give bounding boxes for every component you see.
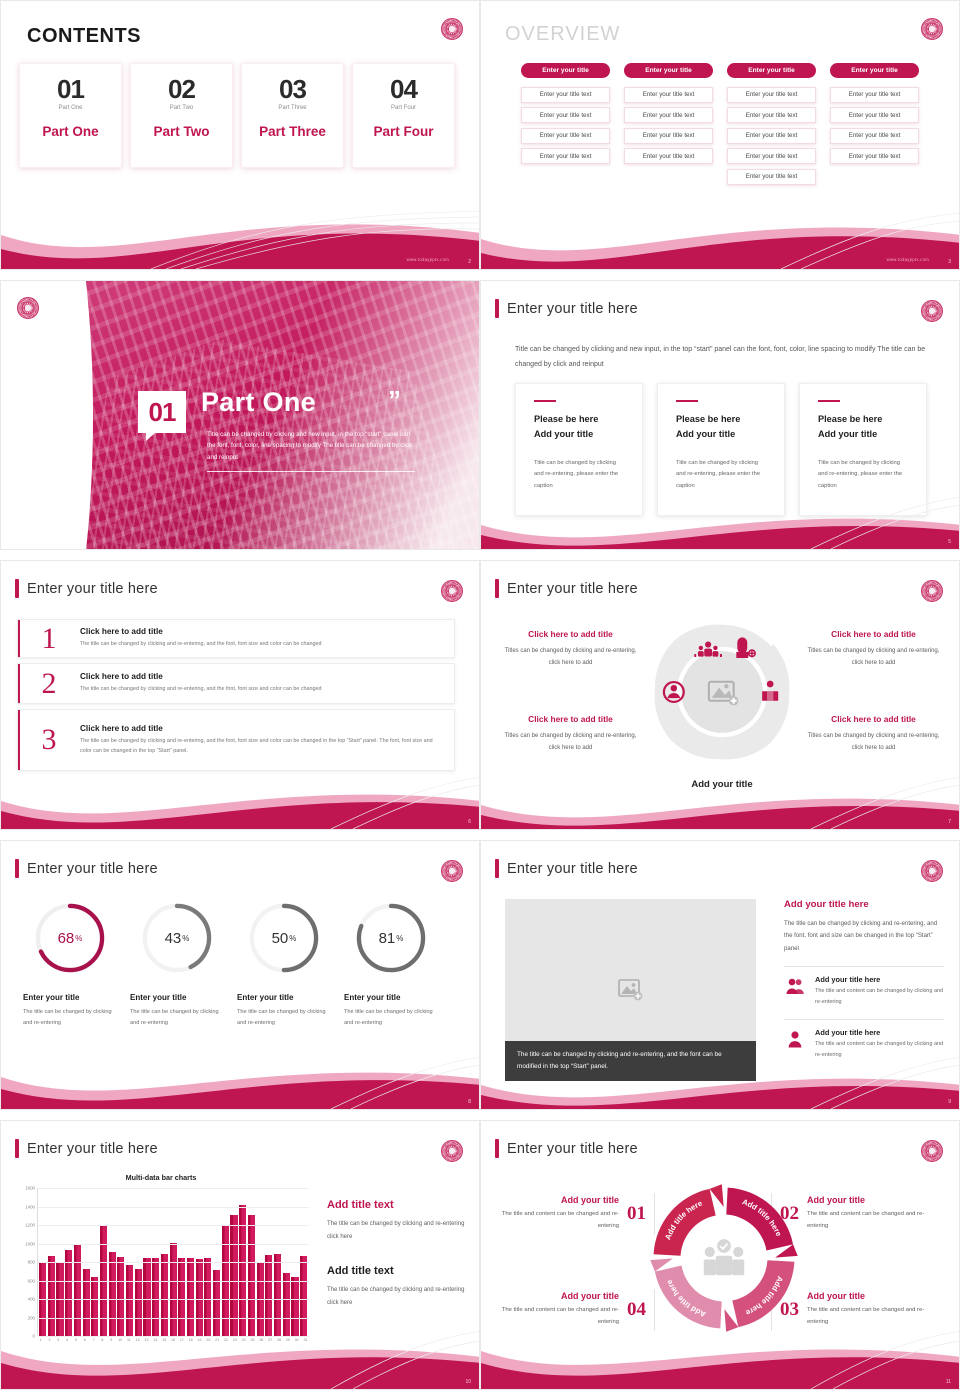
chart-bar xyxy=(265,1255,272,1336)
progress-ring: 81% xyxy=(354,901,428,975)
slide-cycle-diagram[interactable]: Enter your title here Add your title The… xyxy=(480,1120,960,1390)
title-accent-bar xyxy=(495,299,499,318)
chart-bar xyxy=(109,1252,116,1336)
chart-x-tick: 21 xyxy=(214,1338,221,1342)
slide-title-bar: Enter your title here xyxy=(15,859,158,878)
block-body: The title can be changed by clicking and… xyxy=(327,1284,467,1309)
slide-three-cards[interactable]: Enter your title here Title can be chang… xyxy=(480,280,960,550)
item-number: 04 xyxy=(627,1299,646,1321)
card-number: 04 xyxy=(353,76,454,102)
chart-x-tick: 4 xyxy=(63,1338,70,1342)
slide-numbered-list[interactable]: Enter your title here 1 Click here to ad… xyxy=(0,560,480,830)
row-body: The title can be changed by clicking and… xyxy=(80,640,444,650)
overview-item[interactable]: Enter your title text xyxy=(624,87,713,103)
section-heading: Part One xyxy=(201,387,316,418)
divider-rule xyxy=(207,471,415,472)
ring-body: The title can be changed by clicking and… xyxy=(237,1007,329,1029)
ring-body: The title can be changed by clicking and… xyxy=(130,1007,222,1029)
column-heading: Add your title here xyxy=(784,899,944,910)
ring-heading: Enter your title xyxy=(130,993,237,1002)
chart-gridline xyxy=(38,1299,309,1300)
chart-bar xyxy=(170,1243,177,1336)
ring-body: The title can be changed by clicking and… xyxy=(344,1007,436,1029)
card-accent-dash xyxy=(676,400,698,402)
left-white-curve xyxy=(1,281,93,550)
overview-column: Enter your title Enter your title text E… xyxy=(830,63,919,185)
chart-bar xyxy=(178,1258,185,1336)
chart-title: Multi-data bar charts xyxy=(13,1173,309,1182)
column-body: The title can be changed by clicking and… xyxy=(784,918,944,955)
card-heading-line1: Please be here xyxy=(534,414,598,424)
chart-x-tick: 11 xyxy=(125,1338,132,1342)
ring-number: 50 xyxy=(272,930,289,947)
slide-title-bar: Enter your title here xyxy=(15,579,158,598)
ring-item[interactable]: 43% Enter your title The title can be ch… xyxy=(130,901,237,1029)
block-heading: Add title text xyxy=(327,1265,467,1277)
quote-mark-icon: ” xyxy=(388,385,401,416)
chart-gridline xyxy=(38,1318,309,1319)
card-number: 03 xyxy=(242,76,343,102)
page-title: Enter your title here xyxy=(507,581,638,597)
ring-item[interactable]: 81% Enter your title The title can be ch… xyxy=(344,901,451,1029)
card-body: Title can be changed by clicking and re-… xyxy=(676,458,766,493)
chart-x-tick: 15 xyxy=(161,1338,168,1342)
radial-item-top-left[interactable]: Click here to add title Titles can be ch… xyxy=(503,629,638,669)
chart-x-tick: 10 xyxy=(116,1338,123,1342)
chart-bar xyxy=(196,1259,203,1336)
chart-x-tick: 12 xyxy=(134,1338,141,1342)
university-seal-icon xyxy=(441,580,463,602)
chart-bar xyxy=(74,1245,81,1336)
feature-heading: Add your title here xyxy=(815,1028,944,1037)
chart-x-tick: 17 xyxy=(178,1338,185,1342)
slide-contents[interactable]: CONTENTS 01 Part One Part One 02 Part Tw… xyxy=(0,0,480,270)
diagram-caption: Add your title xyxy=(649,779,795,790)
overview-columns: Enter your title Enter your title text E… xyxy=(521,63,919,185)
progress-ring: 68% xyxy=(33,901,107,975)
overview-pill-button[interactable]: Enter your title xyxy=(521,63,610,78)
chart-gridline xyxy=(38,1244,309,1245)
ring-value: 50% xyxy=(247,901,321,975)
overview-item[interactable]: Enter your title text xyxy=(521,107,610,123)
title-accent-bar xyxy=(495,859,499,878)
image-caption: The title can be changed by clicking and… xyxy=(505,1041,756,1081)
slide-overview[interactable]: OVERVIEW Enter your title Enter your tit… xyxy=(480,0,960,270)
chart-x-tick: 31 xyxy=(302,1338,309,1342)
chart-x-tick: 9 xyxy=(108,1338,115,1342)
chart-x-tick: 3 xyxy=(55,1338,62,1342)
page-title: OVERVIEW xyxy=(505,23,620,46)
row-body: The title can be changed by clicking and… xyxy=(80,685,444,695)
chart-gridline xyxy=(38,1225,309,1226)
item-heading: Click here to add title xyxy=(503,714,638,724)
chart-x-tick: 22 xyxy=(222,1338,229,1342)
list-item[interactable]: 1 Click here to add title The title can … xyxy=(17,619,455,658)
radial-donut-chart[interactable] xyxy=(649,619,795,765)
card-subtitle: Part Three xyxy=(242,105,343,111)
item-heading: Click here to add title xyxy=(806,714,941,724)
radial-layout: Click here to add title Titles can be ch… xyxy=(481,609,960,809)
slide-title-bar: Enter your title here xyxy=(495,579,638,598)
contents-card-list: 01 Part One Part One 02 Part Two Part Tw… xyxy=(19,63,455,168)
contents-card[interactable]: 03 Part Three Part Three xyxy=(241,63,344,168)
list-item[interactable]: 3 Click here to add title The title can … xyxy=(17,709,455,771)
chart-x-tick: 20 xyxy=(205,1338,212,1342)
chart-x-tick: 18 xyxy=(187,1338,194,1342)
slide-title-bar: Enter your title here xyxy=(495,859,638,878)
chart-y-tick: 800 xyxy=(28,1260,35,1265)
chart-y-tick: 1400 xyxy=(25,1204,35,1209)
radial-item-bottom-right[interactable]: Click here to add title Titles can be ch… xyxy=(806,714,941,754)
ring-heading: Enter your title xyxy=(237,993,344,1002)
chart-bar xyxy=(135,1269,142,1336)
overview-column: Enter your title Enter your title text E… xyxy=(521,63,610,185)
chart-x-tick: 23 xyxy=(231,1338,238,1342)
info-card[interactable]: Please be hereAdd your title Title can b… xyxy=(515,383,643,516)
page-number: 10 xyxy=(465,1379,471,1385)
item-body: The title and content can be changed and… xyxy=(807,1209,933,1232)
wave-decoration xyxy=(481,1325,960,1389)
overview-pill-button[interactable]: Enter your title xyxy=(830,63,919,78)
chart-x-tick: 2 xyxy=(46,1338,53,1342)
wave-decoration xyxy=(1,765,480,829)
overview-item[interactable]: Enter your title text xyxy=(521,87,610,103)
slide-title-bar: Enter your title here xyxy=(495,299,638,318)
item-body: Titles can be changed by clicking and re… xyxy=(806,645,941,669)
ring-heading: Enter your title xyxy=(344,993,451,1002)
item-heading: Click here to add title xyxy=(806,629,941,639)
ring-list: 68% Enter your title The title can be ch… xyxy=(23,901,451,1029)
card-heading-line2: Add your title xyxy=(818,429,877,439)
card-number: 02 xyxy=(131,76,232,102)
ring-number: 81 xyxy=(379,930,396,947)
divider xyxy=(784,966,944,967)
chart-text-column: Add title text The title can be changed … xyxy=(327,1199,467,1309)
chart-x-tick: 16 xyxy=(169,1338,176,1342)
row-heading: Click here to add title xyxy=(80,672,444,681)
item-heading: Add your title xyxy=(493,1291,619,1301)
university-seal-icon xyxy=(17,297,39,319)
card-part-label: Part Four xyxy=(353,124,454,139)
chart-bar xyxy=(91,1277,98,1336)
divider xyxy=(784,1019,944,1020)
overview-pill-button[interactable]: Enter your title xyxy=(624,63,713,78)
chart-x-tick: 28 xyxy=(275,1338,282,1342)
overview-item[interactable]: Enter your title text xyxy=(830,128,919,144)
ring-number: 43 xyxy=(165,930,182,947)
overview-item[interactable]: Enter your title text xyxy=(521,148,610,164)
slide-title-bar: Enter your title here xyxy=(495,1139,638,1158)
overview-item[interactable]: Enter your title text xyxy=(830,148,919,164)
chart-bar xyxy=(187,1258,194,1336)
item-body: The title and content can be changed and… xyxy=(807,1305,933,1328)
overview-item[interactable]: Enter your title text xyxy=(727,128,816,144)
cycle-item-04[interactable]: Add your title The title and content can… xyxy=(493,1289,671,1331)
list-item[interactable]: 2 Click here to add title The title can … xyxy=(17,663,455,704)
feature-heading: Add your title here xyxy=(815,975,944,984)
chart-x-tick: 19 xyxy=(196,1338,203,1342)
chart-x-tick: 5 xyxy=(72,1338,79,1342)
ring-unit: % xyxy=(396,934,403,943)
university-seal-icon xyxy=(921,860,943,882)
chart-bar xyxy=(48,1256,55,1336)
chart-x-tick: 1 xyxy=(37,1338,44,1342)
page-number: 11 xyxy=(946,1379,951,1385)
chart-gridline xyxy=(38,1262,309,1263)
chart-y-tick: 400 xyxy=(28,1297,35,1302)
text-column: Add your title here The title can be cha… xyxy=(784,899,944,1060)
page-number: 7 xyxy=(948,819,951,825)
item-number: 01 xyxy=(627,1203,646,1225)
university-seal-icon xyxy=(921,18,943,40)
card-subtitle: Part Four xyxy=(353,105,454,111)
page-number: 9 xyxy=(948,1099,951,1105)
chart-x-tick: 13 xyxy=(143,1338,150,1342)
chart-y-tick: 1200 xyxy=(25,1223,35,1228)
overview-item[interactable]: Enter your title text xyxy=(727,169,816,185)
university-seal-icon xyxy=(921,1140,943,1162)
radial-item-bottom-left[interactable]: Click here to add title Titles can be ch… xyxy=(503,714,638,754)
ring-value: 81% xyxy=(354,901,428,975)
overview-column: Enter your title Enter your title text E… xyxy=(624,63,713,185)
chart-bar xyxy=(126,1265,133,1336)
numbered-row-list: 1 Click here to add title The title can … xyxy=(17,619,455,771)
chart-bar xyxy=(274,1254,281,1336)
ring-value: 43% xyxy=(140,901,214,975)
row-body: The title can be changed by clicking and… xyxy=(80,737,444,756)
chart-y-tick: 0 xyxy=(33,1334,35,1339)
block-body: The title can be changed by clicking and… xyxy=(327,1218,467,1243)
block-heading: Add title text xyxy=(327,1199,467,1211)
item-body: Titles can be changed by clicking and re… xyxy=(503,730,638,754)
overview-item[interactable]: Enter your title text xyxy=(727,87,816,103)
chart-bar xyxy=(204,1258,211,1336)
chart-x-tick: 6 xyxy=(81,1338,88,1342)
row-number: 2 xyxy=(18,669,80,699)
card-number: 01 xyxy=(20,76,121,102)
page-number: 6 xyxy=(468,819,471,825)
page-title: Enter your title here xyxy=(507,861,638,877)
ring-unit: % xyxy=(289,934,296,943)
university-seal-icon xyxy=(921,300,943,322)
card-heading-line1: Please be here xyxy=(676,414,740,424)
item-heading: Add your title xyxy=(807,1291,933,1301)
title-accent-bar xyxy=(15,859,19,878)
chart-bar xyxy=(117,1257,124,1336)
card-subtitle: Part One xyxy=(20,105,121,111)
chart-bar xyxy=(291,1277,298,1336)
watermark: www.todaypptx.com xyxy=(407,257,449,262)
row-heading: Click here to add title xyxy=(80,627,444,636)
overview-item[interactable]: Enter your title text xyxy=(727,107,816,123)
page-number: 5 xyxy=(948,539,951,545)
card-body: Title can be changed by clicking and re-… xyxy=(818,458,908,493)
chart-x-tick: 30 xyxy=(293,1338,300,1342)
info-card[interactable]: Please be hereAdd your title Title can b… xyxy=(799,383,927,516)
card-part-label: Part Two xyxy=(131,124,232,139)
slide-title-bar: Enter your title here xyxy=(15,1139,158,1158)
university-seal-icon xyxy=(441,1140,463,1162)
progress-ring: 50% xyxy=(247,901,321,975)
ring-unit: % xyxy=(182,934,189,943)
single-person-icon xyxy=(784,1028,806,1050)
overview-item[interactable]: Enter your title text xyxy=(624,128,713,144)
chart-y-tick: 600 xyxy=(28,1278,35,1283)
ring-body: The title can be changed by clicking and… xyxy=(23,1007,115,1029)
card-heading-line2: Add your title xyxy=(534,429,593,439)
item-heading: Add your title xyxy=(493,1195,619,1205)
chart-x-tick: 7 xyxy=(90,1338,97,1342)
card-subtitle: Part Two xyxy=(131,105,232,111)
cycle-item-01[interactable]: Add your title The title and content can… xyxy=(493,1193,671,1235)
card-body: Title can be changed by clicking and re-… xyxy=(534,458,624,493)
feature-body: The title and content can be changed by … xyxy=(815,1039,944,1060)
contents-card[interactable]: 02 Part Two Part Two xyxy=(130,63,233,168)
item-body: The title and content can be changed and… xyxy=(493,1209,619,1232)
card-accent-dash xyxy=(818,400,840,402)
card-part-label: Part Three xyxy=(242,124,343,139)
page-title: CONTENTS xyxy=(27,25,141,48)
ring-item[interactable]: 50% Enter your title The title can be ch… xyxy=(237,901,344,1029)
section-number-badge: 01 xyxy=(138,391,186,433)
chart-bar xyxy=(300,1256,307,1336)
chart-bar xyxy=(161,1254,168,1336)
info-card[interactable]: Please be hereAdd your title Title can b… xyxy=(657,383,785,516)
university-seal-icon xyxy=(921,580,943,602)
page-title: Enter your title here xyxy=(27,1141,158,1157)
ring-heading: Enter your title xyxy=(23,993,130,1002)
row-number: 1 xyxy=(18,624,80,654)
page-number: 8 xyxy=(468,1099,471,1105)
chart-y-tick: 1000 xyxy=(25,1241,35,1246)
page-title: Enter your title here xyxy=(507,301,638,317)
contents-card[interactable]: 04 Part Four Part Four xyxy=(352,63,455,168)
slide-image-text[interactable]: Enter your title here The title can be c… xyxy=(480,840,960,1110)
page-title: Enter your title here xyxy=(27,861,158,877)
slide-part-one[interactable]: 01 Part One ” Title can be changed by cl… xyxy=(0,280,480,550)
card-accent-dash xyxy=(534,400,556,402)
chart-plot-area: 16001400120010008006004002000 xyxy=(37,1188,309,1336)
page-number: 4 xyxy=(468,539,471,545)
ring-unit: % xyxy=(75,934,82,943)
chart-x-tick: 26 xyxy=(258,1338,265,1342)
row-heading: Click here to add title xyxy=(80,724,444,733)
title-accent-bar xyxy=(495,1139,499,1158)
image-placeholder-icon xyxy=(617,978,645,1002)
card-heading: Please be hereAdd your title xyxy=(676,412,766,441)
ring-value: 68% xyxy=(33,901,107,975)
slide-bar-chart[interactable]: Enter your title here Multi-data bar cha… xyxy=(0,1120,480,1390)
chart-bar xyxy=(152,1258,159,1336)
page-number: 2 xyxy=(468,259,471,265)
radial-item-top-right[interactable]: Click here to add title Titles can be ch… xyxy=(806,629,941,669)
slide-radial-diagram[interactable]: Enter your title here Click here to add … xyxy=(480,560,960,830)
cycle-arrow-diagram[interactable]: Add title here Add title here Add title … xyxy=(649,1183,799,1333)
page-title: Enter your title here xyxy=(27,581,158,597)
lead-paragraph: Title can be changed by clicking and new… xyxy=(515,343,927,372)
feature-item[interactable]: Add your title here The title and conten… xyxy=(784,1028,944,1060)
overview-item[interactable]: Enter your title text xyxy=(830,107,919,123)
page-title: Enter your title here xyxy=(507,1141,638,1157)
chart-x-tick: 8 xyxy=(99,1338,106,1342)
section-body: Title can be changed by clicking and new… xyxy=(207,429,417,463)
overview-item[interactable]: Enter your title text xyxy=(624,148,713,164)
card-part-label: Part One xyxy=(20,124,121,139)
feature-item[interactable]: Add your title here The title and conten… xyxy=(784,975,944,1007)
chart-y-tick: 1600 xyxy=(25,1186,35,1191)
chart-bar xyxy=(143,1258,150,1336)
chart-bar xyxy=(83,1269,90,1336)
chart-y-tick: 200 xyxy=(28,1315,35,1320)
item-heading: Click here to add title xyxy=(503,629,638,639)
contents-card[interactable]: 01 Part One Part One xyxy=(19,63,122,168)
chart-bar xyxy=(283,1273,290,1336)
overview-item[interactable]: Enter your title text xyxy=(727,148,816,164)
card-heading: Please be hereAdd your title xyxy=(534,412,624,441)
chart-x-tick: 27 xyxy=(267,1338,274,1342)
slide-deck-grid: CONTENTS 01 Part One Part One 02 Part Tw… xyxy=(0,0,960,1390)
title-accent-bar xyxy=(495,579,499,598)
overview-column: Enter your title Enter your title text E… xyxy=(727,63,816,185)
bar-chart[interactable]: Multi-data bar charts 160014001200100080… xyxy=(13,1173,309,1361)
row-number: 3 xyxy=(18,725,80,755)
ring-number: 68 xyxy=(58,930,75,947)
card-list: Please be hereAdd your title Title can b… xyxy=(515,383,927,516)
card-heading-line1: Please be here xyxy=(818,414,882,424)
chart-x-tick: 14 xyxy=(152,1338,159,1342)
overview-pill-button[interactable]: Enter your title xyxy=(727,63,816,78)
title-accent-bar xyxy=(15,1139,19,1158)
university-seal-icon xyxy=(441,860,463,882)
chart-x-axis-labels: 1234567891011121314151617181920212223242… xyxy=(37,1338,309,1342)
overview-item[interactable]: Enter your title text xyxy=(624,107,713,123)
ring-item[interactable]: 68% Enter your title The title can be ch… xyxy=(23,901,130,1029)
progress-ring: 43% xyxy=(140,901,214,975)
overview-item[interactable]: Enter your title text xyxy=(521,128,610,144)
feature-body: The title and content can be changed by … xyxy=(815,986,944,1007)
chart-gridline xyxy=(38,1336,309,1337)
university-seal-icon xyxy=(441,18,463,40)
item-body: The title and content can be changed and… xyxy=(493,1305,619,1328)
two-people-icon xyxy=(784,975,806,997)
chart-x-tick: 24 xyxy=(240,1338,247,1342)
card-heading: Please be hereAdd your title xyxy=(818,412,908,441)
overview-item[interactable]: Enter your title text xyxy=(830,87,919,103)
title-accent-bar xyxy=(15,579,19,598)
chart-gridline xyxy=(38,1281,309,1282)
page-number: 3 xyxy=(948,259,951,265)
card-heading-line2: Add your title xyxy=(676,429,735,439)
chart-gridline xyxy=(38,1207,309,1208)
item-body: Titles can be changed by clicking and re… xyxy=(503,645,638,669)
slide-percent-rings[interactable]: Enter your title here 68% Enter your tit… xyxy=(0,840,480,1110)
watermark: www.todaypptx.com xyxy=(887,257,929,262)
wave-decoration xyxy=(1,1045,480,1109)
chart-x-tick: 25 xyxy=(249,1338,256,1342)
chart-gridline xyxy=(38,1188,309,1189)
chart-x-tick: 29 xyxy=(284,1338,291,1342)
item-body: Titles can be changed by clicking and re… xyxy=(806,730,941,754)
item-heading: Add your title xyxy=(807,1195,933,1205)
